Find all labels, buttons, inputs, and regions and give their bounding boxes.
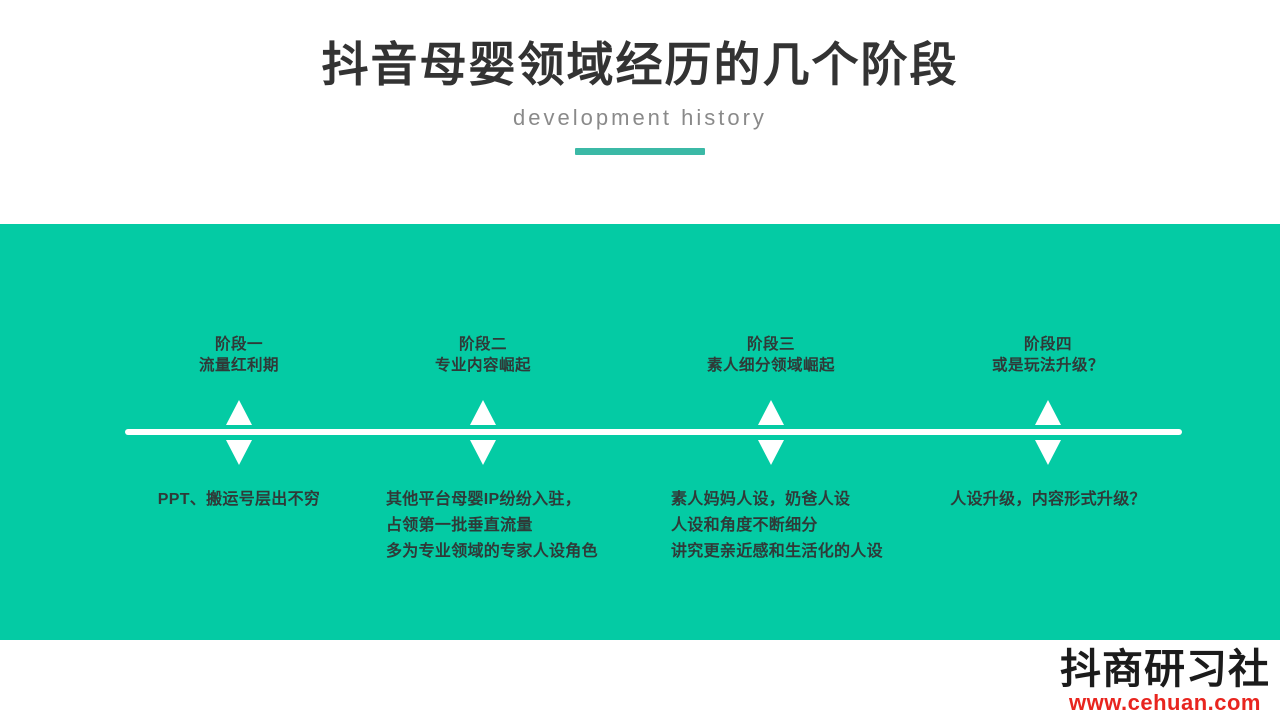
stage-label-subtitle: 专业内容崛起 — [435, 355, 531, 376]
subtitle-underline-rule — [575, 148, 705, 155]
timeline-axis-line — [125, 429, 1182, 435]
watermark-brand: 抖商研习社 — [1060, 649, 1270, 690]
stage-label-title: 阶段三 — [707, 334, 835, 355]
stage-label-1: 阶段一流量红利期 — [199, 334, 279, 376]
stage-label-title: 阶段四 — [992, 334, 1104, 355]
stage-description-3: 素人妈妈人设，奶爸人设人设和角度不断细分讲究更亲近感和生活化的人设 — [671, 487, 883, 565]
triangle-down-icon — [758, 440, 784, 465]
stage-description-line: 素人妈妈人设，奶爸人设 — [671, 487, 883, 513]
triangle-down-icon — [470, 440, 496, 465]
stage-description-line: 其他平台母婴IP纷纷入驻， — [386, 487, 598, 513]
triangle-up-icon — [226, 400, 252, 425]
stage-label-title: 阶段一 — [199, 334, 279, 355]
page-title: 抖音母婴领域经历的几个阶段 — [322, 36, 959, 94]
stage-description-line: 人设升级，内容形式升级？ — [950, 487, 1146, 513]
stage-label-subtitle: 素人细分领域崛起 — [707, 355, 835, 376]
stage-label-subtitle: 或是玩法升级？ — [992, 355, 1104, 376]
slide-header: 抖音母婴领域经历的几个阶段 development history — [0, 0, 1280, 224]
stage-description-line: PPT、搬运号层出不穷 — [158, 487, 320, 513]
page-subtitle: development history — [513, 104, 767, 132]
triangle-up-icon — [470, 400, 496, 425]
stage-label-title: 阶段二 — [435, 334, 531, 355]
stage-label-2: 阶段二专业内容崛起 — [435, 334, 531, 376]
triangle-down-icon — [226, 440, 252, 465]
stage-description-line: 讲究更亲近感和生活化的人设 — [671, 539, 883, 565]
stage-label-4: 阶段四或是玩法升级？ — [992, 334, 1104, 376]
triangle-down-icon — [1035, 440, 1061, 465]
triangle-up-icon — [758, 400, 784, 425]
stage-description-2: 其他平台母婴IP纷纷入驻，占领第一批垂直流量多为专业领域的专家人设角色 — [386, 487, 598, 565]
stage-description-line: 人设和角度不断细分 — [671, 513, 883, 539]
stage-description-4: 人设升级，内容形式升级？ — [950, 487, 1146, 513]
watermark: 抖商研习社 www.cehuan.com — [1060, 649, 1270, 714]
stage-description-line: 占领第一批垂直流量 — [386, 513, 598, 539]
stage-label-subtitle: 流量红利期 — [199, 355, 279, 376]
stage-description-line: 多为专业领域的专家人设角色 — [386, 539, 598, 565]
triangle-up-icon — [1035, 400, 1061, 425]
watermark-url: www.cehuan.com — [1060, 692, 1270, 714]
timeline-panel: 阶段一流量红利期PPT、搬运号层出不穷阶段二专业内容崛起其他平台母婴IP纷纷入驻… — [0, 224, 1280, 640]
slide-root: 抖音母婴领域经历的几个阶段 development history 阶段一流量红… — [0, 0, 1280, 720]
stage-description-1: PPT、搬运号层出不穷 — [158, 487, 320, 513]
stage-label-3: 阶段三素人细分领域崛起 — [707, 334, 835, 376]
